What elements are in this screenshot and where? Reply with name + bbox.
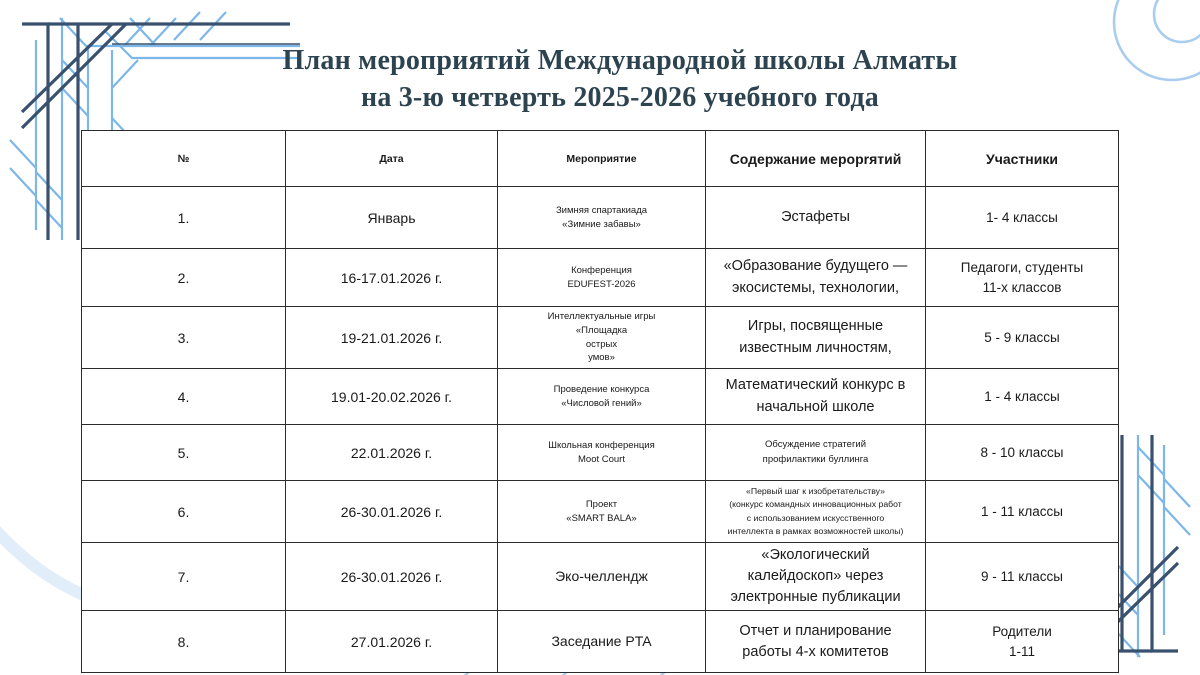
row-participants: Педагоги, студенты 11-х классов [926,249,1119,307]
row-event: Зимняя спартакиада «Зимние забавы» [498,187,706,249]
title-line-1: План мероприятий Международной школы Алм… [230,42,1010,79]
row-content: «Экологический калейдоскоп» через электр… [706,543,926,611]
row-event: Конференция EDUFEST-2026 [498,249,706,307]
row-event: Школьная конференция Moot Court [498,425,706,481]
table-row: 3. 19-21.01.2026 г. Интеллектуальные игр… [82,307,1119,369]
row-date: 16-17.01.2026 г. [286,249,498,307]
table-row: 5. 22.01.2026 г. Школьная конференция Mo… [82,425,1119,481]
table-body: 1. Январь Зимняя спартакиада «Зимние заб… [82,187,1119,673]
column-header-date: Дата [286,131,498,187]
row-participants: 1 - 11 классы [926,481,1119,543]
table-header-row: № Дата Мероприятие Содержание мероprятий… [82,131,1119,187]
row-number: 4. [82,369,286,425]
concentric-circles-decoration-icon [1060,0,1200,110]
row-content: Математический конкурс в начальной школе [706,369,926,425]
row-participants: 5 - 9 классы [926,307,1119,369]
row-event: Эко-челлендж [498,543,706,611]
row-event: Проект «SMART BALA» [498,481,706,543]
row-number: 2. [82,249,286,307]
table-row: 4. 19.01-20.02.2026 г. Проведение конкур… [82,369,1119,425]
row-content: «Образование будущего — экосистемы, техн… [706,249,926,307]
row-date: 19.01-20.02.2026 г. [286,369,498,425]
row-event: Проведение конкурса «Числовой гений» [498,369,706,425]
column-header-participants: Участники [926,131,1119,187]
events-plan-table: № Дата Мероприятие Содержание мероprятий… [81,130,1119,673]
row-date: 26-30.01.2026 г. [286,481,498,543]
title-line-2: на 3-ю четверть 2025-2026 учебного года [230,79,1010,116]
row-date: 27.01.2026 г. [286,611,498,673]
row-event: Заседание PTA [498,611,706,673]
row-number: 5. [82,425,286,481]
row-number: 1. [82,187,286,249]
row-number: 3. [82,307,286,369]
row-event: Интеллектуальные игры «Площадка острых у… [498,307,706,369]
row-number: 7. [82,543,286,611]
row-participants: Родители 1-11 [926,611,1119,673]
row-date: Январь [286,187,498,249]
row-content: Эстафеты [706,187,926,249]
column-header-number: № [82,131,286,187]
column-header-event: Мероприятие [498,131,706,187]
row-number: 8. [82,611,286,673]
row-participants: 1 - 4 классы [926,369,1119,425]
row-content: Обсуждение стратегий профилактики буллин… [706,425,926,481]
row-date: 22.01.2026 г. [286,425,498,481]
row-content: «Первый шаг к изобретательству» (конкурс… [706,481,926,543]
slide-canvas: План мероприятий Международной школы Алм… [0,0,1200,675]
row-date: 19-21.01.2026 г. [286,307,498,369]
row-date: 26-30.01.2026 г. [286,543,498,611]
table-row: 6. 26-30.01.2026 г. Проект «SMART BALA» … [82,481,1119,543]
row-content: Отчет и планирование работы 4-х комитето… [706,611,926,673]
table-row: 2. 16-17.01.2026 г. Конференция EDUFEST-… [82,249,1119,307]
page-title: План мероприятий Международной школы Алм… [230,42,1010,116]
row-participants: 9 - 11 классы [926,543,1119,611]
row-participants: 1- 4 классы [926,187,1119,249]
row-content: Игры, посвященные известным личностям, [706,307,926,369]
table-row: 7. 26-30.01.2026 г. Эко-челлендж «Эколог… [82,543,1119,611]
table-row: 8. 27.01.2026 г. Заседание PTA Отчет и п… [82,611,1119,673]
row-number: 6. [82,481,286,543]
column-header-content: Содержание мероprятий [706,131,926,187]
table-header: № Дата Мероприятие Содержание мероprятий… [82,131,1119,187]
row-participants: 8 - 10 классы [926,425,1119,481]
table-row: 1. Январь Зимняя спартакиада «Зимние заб… [82,187,1119,249]
